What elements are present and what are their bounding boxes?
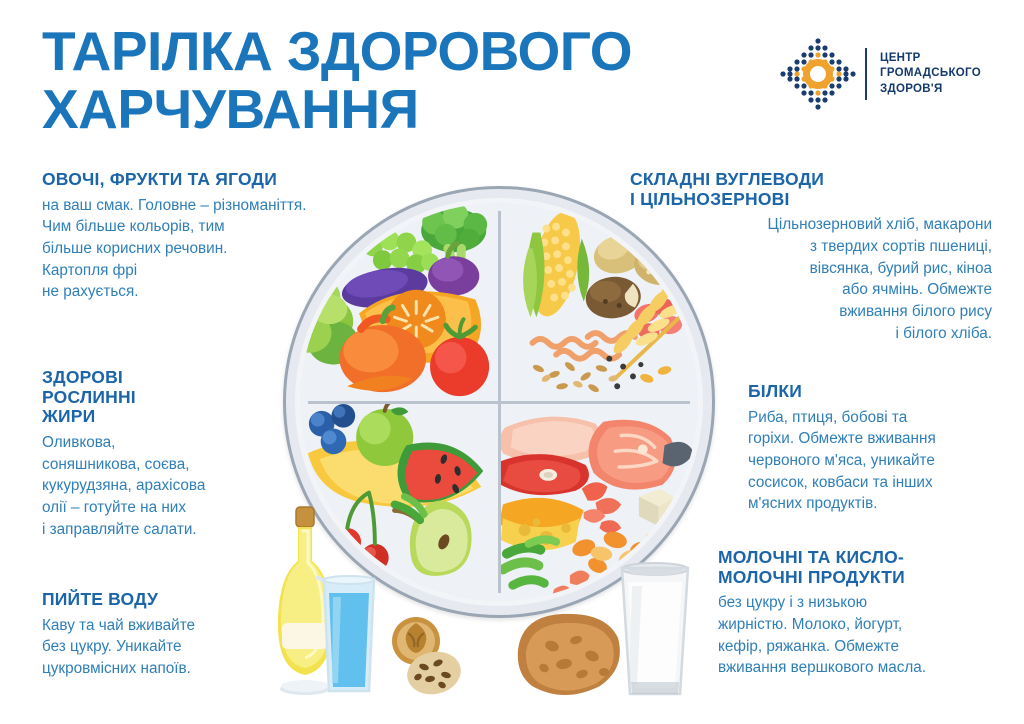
text-line: горіхи. Обмежте вживання <box>748 428 1010 450</box>
plate-quadrant-wholegrains <box>499 203 698 402</box>
page-title-line-1: ТАРІЛКА ЗДОРОВОГО <box>42 20 632 82</box>
text-line: і заправляйте салати. <box>42 519 302 541</box>
logo-text-line-3: ЗДОРОВ'Я <box>880 82 981 98</box>
section-proteins: БІЛКИ Риба, птиця, бобові та горіхи. Обм… <box>748 382 1010 515</box>
logo-text-line-2: ГРОМАДСЬКОГО <box>880 66 981 82</box>
section-drink-water: ПИЙТЕ ВОДУ Каву та чай вживайте без цукр… <box>42 590 297 680</box>
bread-slice <box>508 610 626 696</box>
text-line: сосисок, ковбаси та інших <box>748 472 1010 494</box>
text-line: Риба, птиця, бобові та <box>748 407 1010 429</box>
section-dairy-heading: МОЛОЧНІ ТА КИСЛО- МОЛОЧНІ ПРОДУКТИ <box>718 548 1008 587</box>
text-line: олії – готуйте на них <box>42 497 302 519</box>
plate-inner <box>300 203 698 601</box>
plate-divider-horizontal <box>308 401 690 404</box>
section-dairy-body: без цукру і з низькою жирністю. Молоко, … <box>718 592 1008 679</box>
infographic-root: ТАРІЛКА ЗДОРОВОГО ХАРЧУВАННЯ <box>0 0 1024 724</box>
text-line: без цукру. Уникайте <box>42 636 297 658</box>
text-line: Оливкова, <box>42 432 302 454</box>
walnuts <box>386 615 466 697</box>
plate-quadrant-vegetables <box>300 203 499 402</box>
section-healthy-fats: ЗДОРОВІ РОСЛИННІ ЖИРИ Оливкова, соняшник… <box>42 368 302 540</box>
section-healthy-fats-heading: ЗДОРОВІ РОСЛИННІ ЖИРИ <box>42 368 302 427</box>
text-line: кефір, ряжанка. Обмежте <box>718 636 1008 658</box>
logo-divider <box>865 48 867 100</box>
heading-line: РОСЛИННІ <box>42 388 302 408</box>
text-line: кукурудзяна, арахісова <box>42 475 302 497</box>
text-line: цукровмісних напоїв. <box>42 658 297 680</box>
plate-rim <box>283 186 715 618</box>
text-line: Каву та чай вживайте <box>42 615 297 637</box>
heading-line: МОЛОЧНІ ТА КИСЛО- <box>718 548 1008 568</box>
heading-line: ЗДОРОВІ <box>42 368 302 388</box>
text-line: без цукру і з низькою <box>718 592 1008 614</box>
section-drink-water-body: Каву та чай вживайте без цукру. Уникайте… <box>42 615 297 680</box>
logo-text: ЦЕНТР ГРОМАДСЬКОГО ЗДОРОВ'Я <box>880 51 981 98</box>
section-drink-water-heading: ПИЙТЕ ВОДУ <box>42 590 297 610</box>
section-dairy: МОЛОЧНІ ТА КИСЛО- МОЛОЧНІ ПРОДУКТИ без ц… <box>718 548 1008 679</box>
water-glass <box>320 575 378 695</box>
text-line: м'ясних продуктів. <box>748 493 1010 515</box>
section-healthy-fats-body: Оливкова, соняшникова, соєва, кукурудзян… <box>42 432 302 541</box>
page-title-line-2: ХАРЧУВАННЯ <box>42 80 682 138</box>
heading-line: ЖИРИ <box>42 407 302 427</box>
healthy-eating-plate <box>283 186 715 618</box>
health-center-logo: ЦЕНТР ГРОМАДСЬКОГО ЗДОРОВ'Я <box>777 33 992 115</box>
section-proteins-heading: БІЛКИ <box>748 382 1010 402</box>
milk-glass <box>616 562 694 698</box>
heading-line: МОЛОЧНІ ПРОДУКТИ <box>718 568 1008 588</box>
text-line: вживання вершкового масла. <box>718 657 1008 679</box>
page-title: ТАРІЛКА ЗДОРОВОГО ХАРЧУВАННЯ <box>42 22 682 139</box>
text-line: червоного м'яса, уникайте <box>748 450 1010 472</box>
logo-diamond-dots-icon <box>777 33 859 115</box>
text-line: жирністю. Молоко, йогурт, <box>718 614 1008 636</box>
text-line: соняшникова, соєва, <box>42 454 302 476</box>
logo-text-line-1: ЦЕНТР <box>880 51 981 67</box>
section-proteins-body: Риба, птиця, бобові та горіхи. Обмежте в… <box>748 407 1010 516</box>
